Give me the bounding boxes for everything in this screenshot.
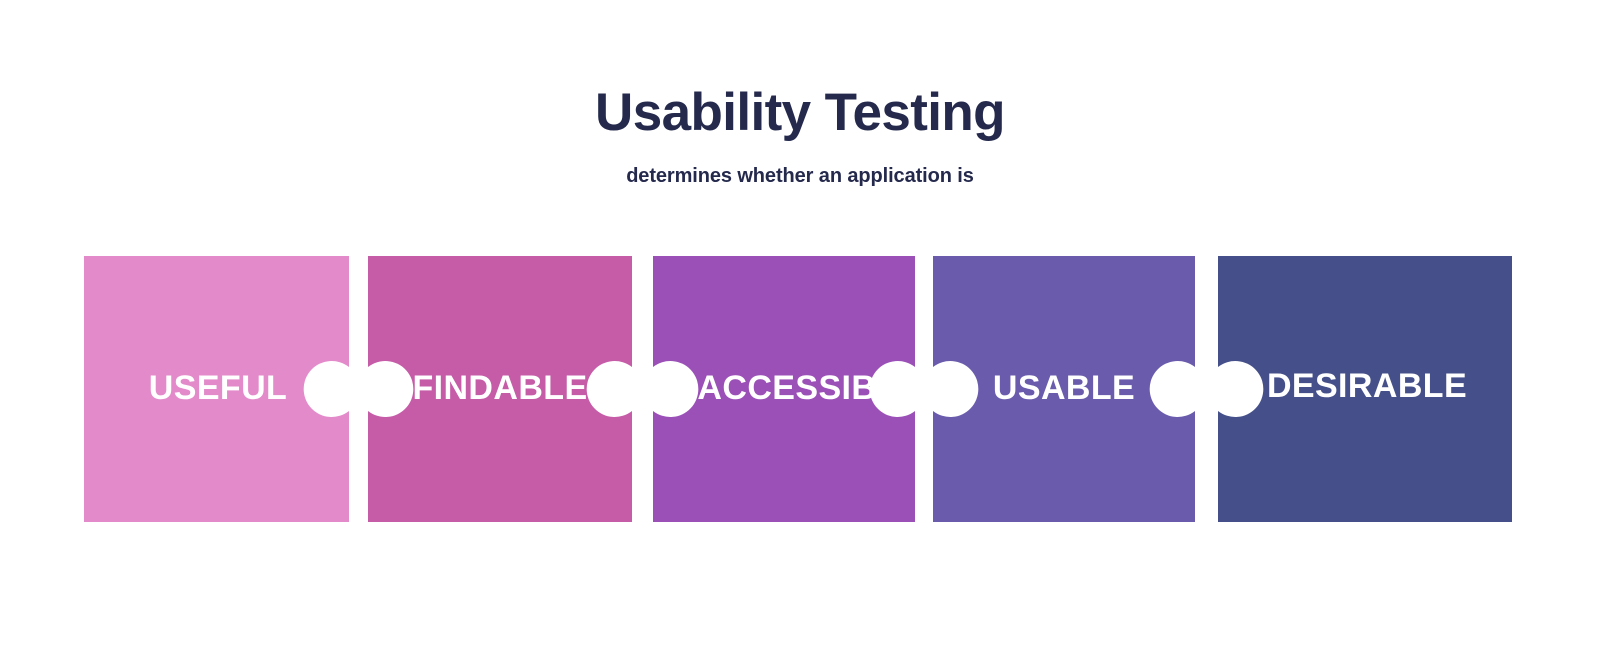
puzzle-piece-5[interactable]: DESIRABLE [1218, 256, 1512, 522]
puzzle-piece-label: ACCESSIBLE [697, 369, 920, 407]
page-title: Usability Testing [0, 86, 1600, 139]
usability-testing-infographic: Usability Testing determines whether an … [0, 0, 1600, 649]
puzzle-diagram: USEFUL FINDABLE ACCESSIBLE USABLE DESIRA… [78, 250, 1522, 530]
puzzle-svg: USEFUL FINDABLE ACCESSIBLE USABLE DESIRA… [78, 250, 1522, 530]
puzzle-piece-label: USABLE [993, 369, 1135, 407]
puzzle-piece-3[interactable]: ACCESSIBLE [653, 256, 921, 522]
puzzle-piece-2[interactable]: FINDABLE [368, 256, 632, 522]
page-subtitle: determines whether an application is [0, 139, 1600, 186]
puzzle-piece-label: USEFUL [149, 369, 287, 407]
puzzle-piece-4[interactable]: USABLE [933, 256, 1195, 522]
puzzle-piece-1[interactable]: USEFUL [84, 256, 349, 522]
puzzle-piece-label: DESIRABLE [1267, 367, 1467, 405]
header: Usability Testing determines whether an … [0, 86, 1600, 186]
puzzle-piece-label: FINDABLE [412, 369, 587, 407]
